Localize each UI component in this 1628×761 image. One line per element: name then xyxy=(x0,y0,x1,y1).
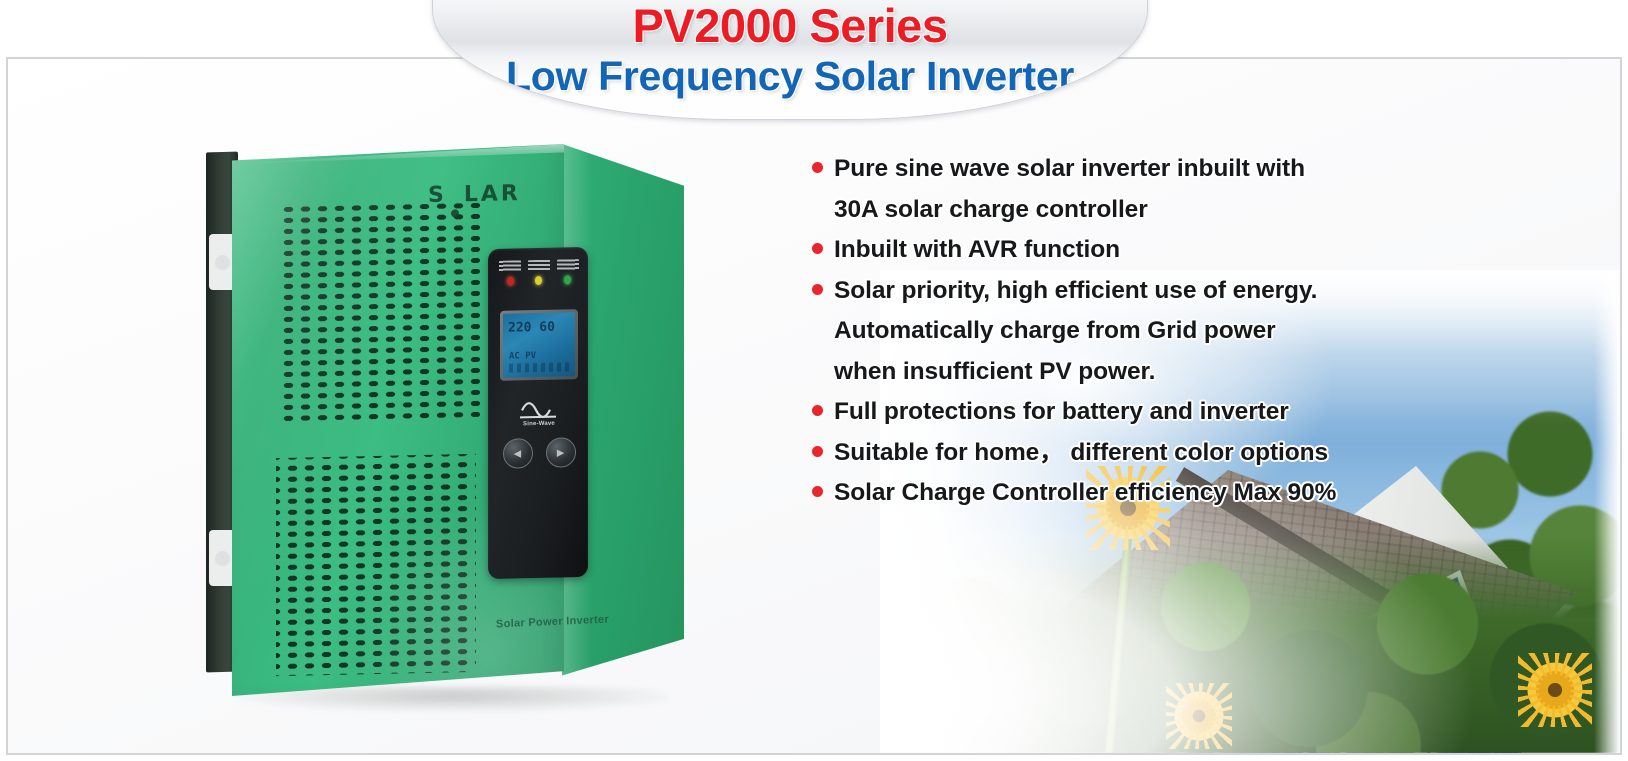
lcd-primary-readout: 220 60 xyxy=(508,320,555,336)
feature-item: 30A solar charge controller xyxy=(812,191,1412,230)
bullet-icon xyxy=(812,446,823,457)
lcd-bezel: 220 60 AC PV xyxy=(500,309,578,381)
lcd-bargraph-icon xyxy=(509,362,569,372)
bullet-icon xyxy=(812,284,823,295)
select-button[interactable]: ◀ xyxy=(503,438,533,469)
bullet-spacer-icon xyxy=(812,365,823,376)
feature-text: Full protections for battery and inverte… xyxy=(834,393,1289,432)
lcd-secondary-readout: AC PV xyxy=(509,351,536,362)
feature-item: Full protections for battery and inverte… xyxy=(812,393,1412,432)
feature-text: Solar priority, high efficient use of en… xyxy=(834,272,1317,311)
header-rule-left xyxy=(6,57,438,59)
feature-text: when insufficient PV power. xyxy=(834,353,1155,392)
feature-item: Solar priority, high efficient use of en… xyxy=(812,272,1412,311)
product-banner: SLAR 220 60 AC PV xyxy=(0,0,1628,761)
title-plaque-inner: PV2000 Series Low Frequency Solar Invert… xyxy=(433,0,1147,119)
charge-led-icon xyxy=(564,275,571,284)
control-button-row: ◀ ▶ xyxy=(496,437,582,479)
lcd-display: 220 60 AC PV xyxy=(503,312,575,378)
enter-button[interactable]: ▶ xyxy=(546,437,576,468)
feature-item: Solar Charge Controller efficiency Max 9… xyxy=(812,474,1412,513)
feature-list: Pure sine wave solar inverter inbuilt wi… xyxy=(812,150,1412,515)
sine-wave-glyph xyxy=(518,396,560,423)
inverter-led-label-icon xyxy=(499,260,521,271)
battery-led-label-icon xyxy=(528,260,550,271)
feature-item: Pure sine wave solar inverter inbuilt wi… xyxy=(812,150,1412,189)
feature-item: Automatically charge from Grid power xyxy=(812,312,1412,351)
feature-item: Suitable for home， different color optio… xyxy=(812,434,1412,473)
page-title: PV2000 Series xyxy=(433,2,1147,49)
charge-led-label-icon xyxy=(557,259,579,270)
page-subtitle: Low Frequency Solar Inverter xyxy=(433,56,1147,97)
feature-text: Solar Charge Controller efficiency Max 9… xyxy=(834,474,1336,513)
photo-right-fade xyxy=(1594,270,1620,753)
feature-item: Inbuilt with AVR function xyxy=(812,231,1412,270)
battery-led-group xyxy=(528,260,550,285)
bullet-icon xyxy=(812,486,823,497)
bullet-icon xyxy=(812,243,823,254)
inverter-led-group xyxy=(499,260,521,285)
brand-logo-lar: LAR xyxy=(464,181,521,207)
bullet-icon xyxy=(812,405,823,416)
inverter-product-image: SLAR 220 60 AC PV xyxy=(196,138,716,708)
feature-text: Pure sine wave solar inverter inbuilt wi… xyxy=(834,150,1305,189)
brand-logo-s: S xyxy=(428,183,447,208)
bullet-spacer-icon xyxy=(812,324,823,335)
feature-text: Suitable for home， different color optio… xyxy=(834,434,1328,473)
solar-brand-logo: SLAR xyxy=(428,181,521,208)
sine-wave-caption: Sine-Wave xyxy=(512,420,566,427)
title-plaque: PV2000 Series Low Frequency Solar Invert… xyxy=(432,0,1148,120)
bullet-icon xyxy=(812,162,823,173)
header-rule-right xyxy=(1142,57,1622,59)
battery-led-icon xyxy=(535,276,542,285)
inverter-led-icon xyxy=(507,277,514,286)
feature-text: Automatically charge from Grid power xyxy=(834,312,1276,351)
mount-keyhole-top xyxy=(209,234,235,290)
charge-led-group xyxy=(557,259,579,284)
enter-button-glyph: ▶ xyxy=(547,438,575,467)
feature-text: Inbuilt with AVR function xyxy=(834,231,1120,270)
select-button-glyph: ◀ xyxy=(504,439,532,468)
led-indicator-row xyxy=(496,259,582,301)
mount-keyhole-bottom xyxy=(209,530,235,586)
bullet-spacer-icon xyxy=(812,203,823,214)
feature-text: 30A solar charge controller xyxy=(834,191,1148,230)
feature-item: when insufficient PV power. xyxy=(812,353,1412,392)
